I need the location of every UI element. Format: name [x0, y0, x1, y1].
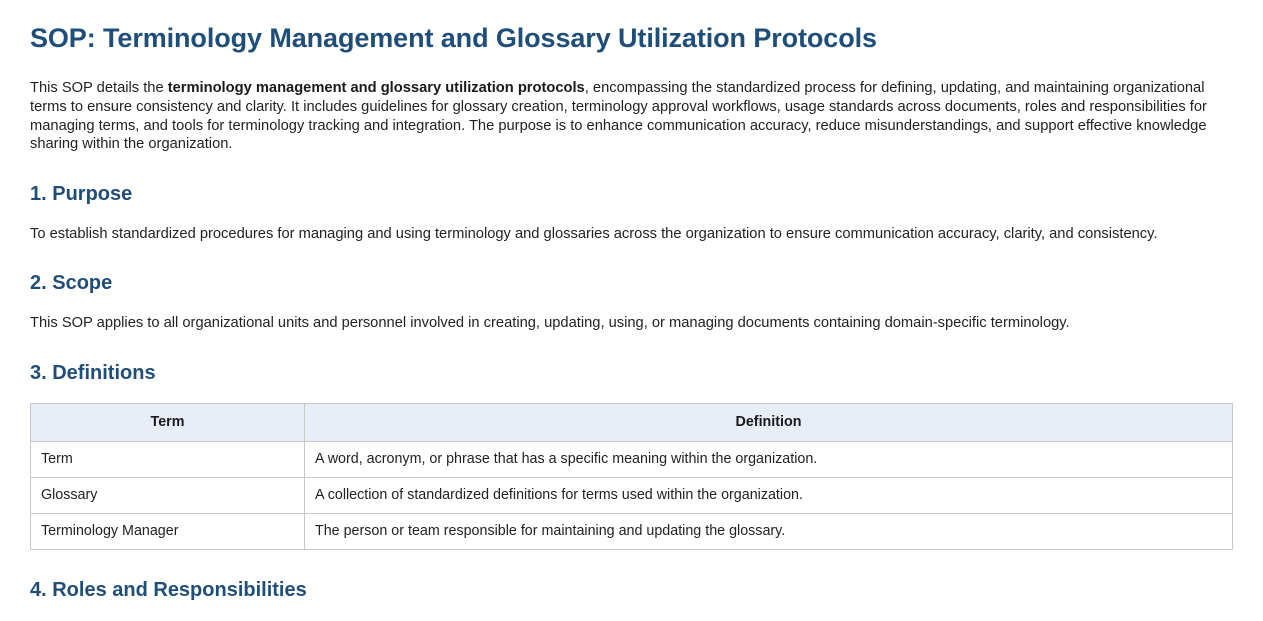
column-header-term: Term	[31, 403, 305, 441]
cell-definition: A collection of standardized definitions…	[305, 477, 1233, 513]
intro-lead-text: This SOP details the	[30, 80, 168, 96]
intro-bold-phrase: terminology management and glossary util…	[168, 80, 585, 96]
section-heading-scope: 2. Scope	[30, 271, 1233, 296]
table-row: Terminology Manager The person or team r…	[31, 513, 1233, 549]
document-page: SOP: Terminology Management and Glossary…	[0, 0, 1263, 603]
column-header-definition: Definition	[305, 403, 1233, 441]
section-heading-roles-and-responsibilities: 4. Roles and Responsibilities	[30, 578, 1233, 603]
intro-paragraph: This SOP details the terminology managem…	[30, 79, 1216, 153]
table-row: Glossary A collection of standardized de…	[31, 477, 1233, 513]
section-body-scope: This SOP applies to all organizational u…	[30, 314, 1216, 333]
definitions-table: Term Definition Term A word, acronym, or…	[30, 403, 1233, 550]
section-heading-purpose: 1. Purpose	[30, 182, 1233, 207]
section-body-purpose: To establish standardized procedures for…	[30, 225, 1216, 244]
page-title: SOP: Terminology Management and Glossary…	[30, 22, 1233, 54]
cell-term: Terminology Manager	[31, 513, 305, 549]
cell-term: Term	[31, 441, 305, 477]
section-heading-definitions: 3. Definitions	[30, 361, 1233, 386]
cell-definition: The person or team responsible for maint…	[305, 513, 1233, 549]
cell-definition: A word, acronym, or phrase that has a sp…	[305, 441, 1233, 477]
table-header-row: Term Definition	[31, 403, 1233, 441]
cell-term: Glossary	[31, 477, 305, 513]
table-row: Term A word, acronym, or phrase that has…	[31, 441, 1233, 477]
